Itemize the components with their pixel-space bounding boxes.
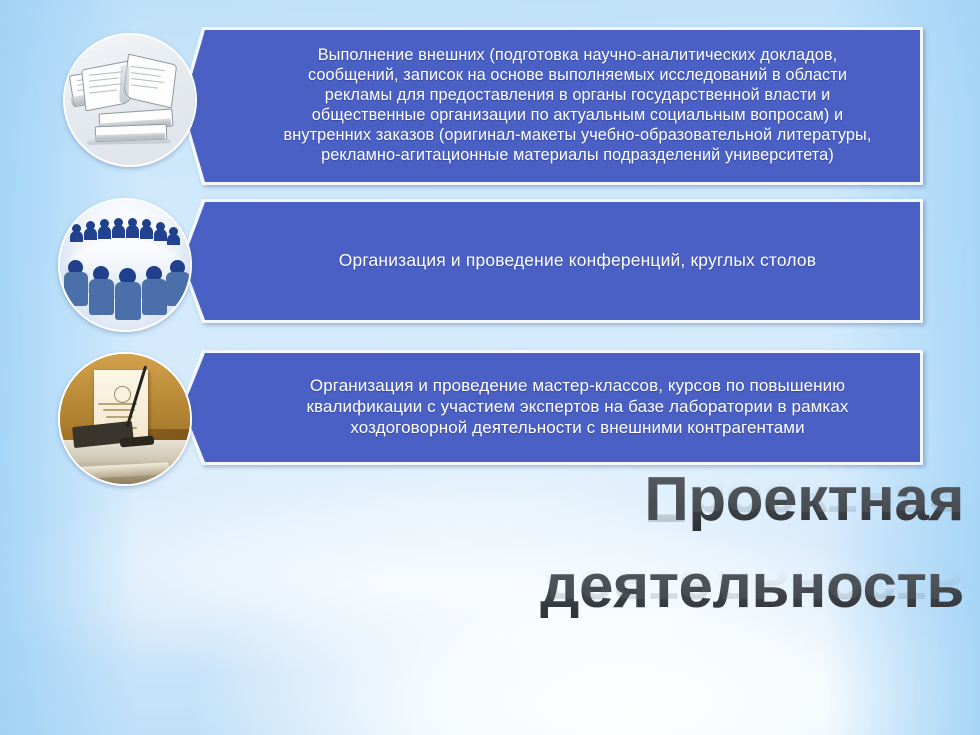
banner-text: Организация и проведение конференций, кр…	[261, 250, 842, 271]
books-illustration	[65, 35, 195, 165]
banner-text: Организация и проведение мастер-классов,…	[229, 376, 875, 438]
title-line-2-reflection: деятельность	[540, 555, 964, 616]
round-table-meeting-photo	[58, 198, 192, 332]
banner-external-orders[interactable]: Выполнение внешних (подготовка научно-ан…	[183, 30, 920, 182]
banner-text: Выполнение внешних (подготовка научно-ан…	[206, 46, 898, 165]
slide-canvas: Выполнение внешних (подготовка научно-ан…	[0, 0, 980, 735]
slide-title: Проектная Проектная деятельность деятель…	[344, 470, 964, 618]
banner-conferences[interactable]: Организация и проведение конференций, кр…	[183, 202, 920, 320]
certificate-microphone-photo	[58, 352, 192, 486]
meeting-illustration	[60, 200, 190, 330]
seal-icon	[114, 386, 131, 403]
masterclass-illustration	[60, 354, 190, 484]
title-line-1-reflection: Проектная	[644, 468, 964, 529]
banner-masterclasses[interactable]: Организация и проведение мастер-классов,…	[183, 353, 920, 462]
open-books-sketch-photo	[63, 33, 197, 167]
